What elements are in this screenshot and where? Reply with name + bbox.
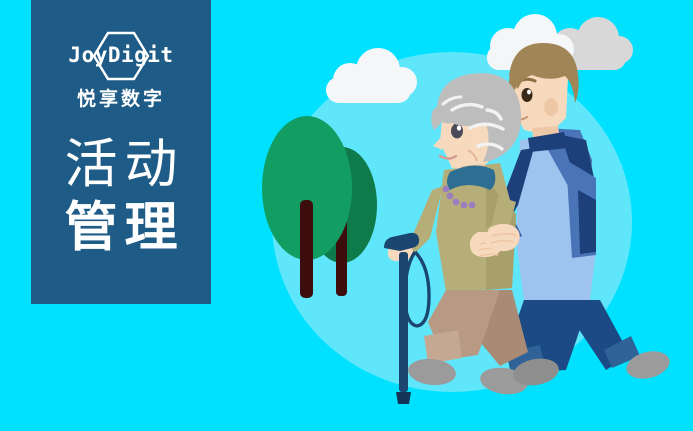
brand-panel: JoyDigit 悦享数字 活动 管理 (31, 0, 211, 304)
page-title: 活动 管理 (31, 134, 211, 260)
poster-canvas: JoyDigit 悦享数字 活动 管理 (0, 0, 693, 431)
logo-block: JoyDigit 悦享数字 (31, 30, 211, 112)
logo-wordmark: JoyDigit (31, 42, 211, 68)
page-title-line2: 管理 (31, 196, 211, 260)
elder-eye (451, 124, 463, 139)
logo-mark: JoyDigit (31, 30, 211, 82)
cloud-left (326, 48, 417, 103)
page-title-line1: 活动 (31, 134, 211, 196)
logo-chinese-name: 悦享数字 (31, 88, 211, 112)
man-eye (522, 88, 533, 102)
